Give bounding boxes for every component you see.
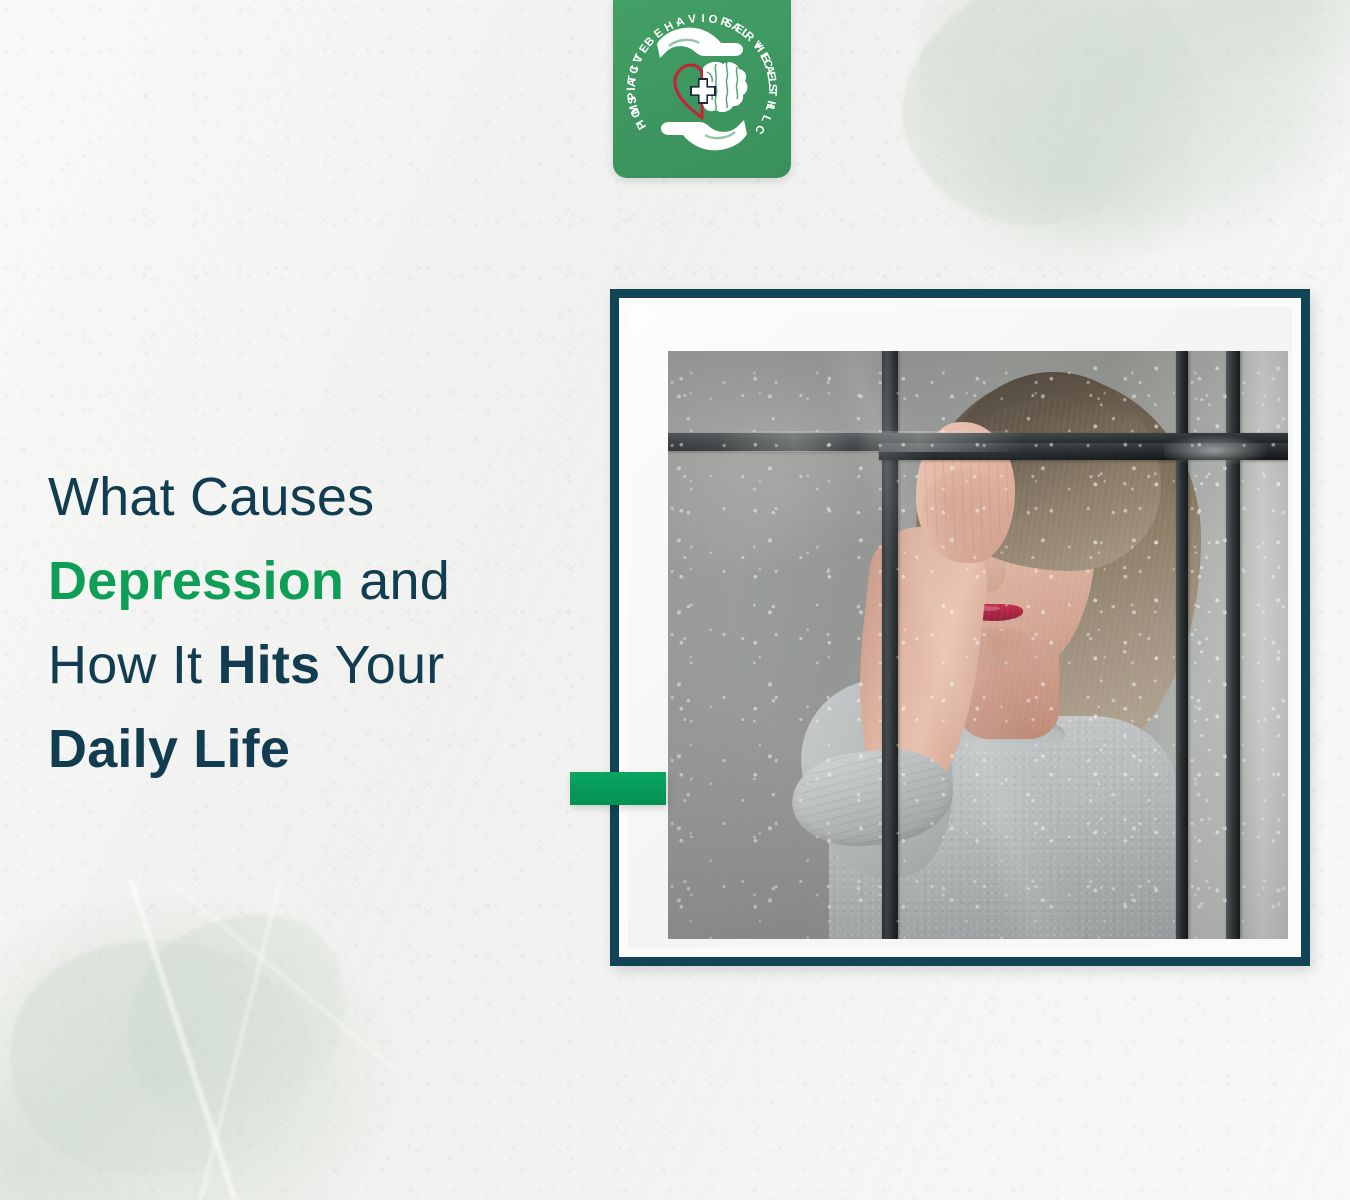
headline-text-depression: Depression xyxy=(48,551,344,611)
framed-photo xyxy=(610,289,1310,966)
headline-text-hits: Hits xyxy=(217,635,320,695)
svg-text:C: C xyxy=(752,122,767,136)
svg-text:L: L xyxy=(759,113,773,124)
photo-frame-mat xyxy=(628,307,1292,948)
svg-text:V: V xyxy=(688,13,698,26)
photo-frame-border xyxy=(610,289,1310,966)
leaf-shape-bottom-left xyxy=(0,907,335,1200)
headline-text-your: Your xyxy=(320,635,444,695)
photo-vignette xyxy=(668,351,1288,939)
headline-line-2: Depression and xyxy=(48,539,568,623)
headline-text-daily-life: Daily Life xyxy=(48,719,290,779)
svg-text:T: T xyxy=(626,75,639,84)
leaf-shape-top-right xyxy=(869,0,1232,260)
logo-graphic: IMPACTBEHAVIORALHEALTH POSITIVE·SERVICES… xyxy=(613,0,791,178)
headline-text-what-causes: What Causes xyxy=(48,467,374,527)
svg-text:S: S xyxy=(766,84,778,92)
logo-badge[interactable]: IMPACTBEHAVIORALHEALTH POSITIVE·SERVICES… xyxy=(613,0,791,178)
leaf-vein-highlights xyxy=(0,880,400,1200)
svg-text:I: I xyxy=(626,87,638,90)
headline-line-3: How It Hits Your xyxy=(48,623,568,707)
headline-line-1: What Causes xyxy=(48,455,568,539)
poster-canvas: IMPACTBEHAVIORALHEALTH POSITIVE·SERVICES… xyxy=(0,0,1350,1200)
depression-woman-window-photo xyxy=(668,351,1288,939)
headline-text-and: and xyxy=(344,551,450,611)
watercolor-blob-bottom-left xyxy=(0,870,410,1200)
headline-text-how-it: How It xyxy=(48,635,217,695)
page-title: What Causes Depression and How It Hits Y… xyxy=(48,455,568,791)
svg-text:I: I xyxy=(702,13,705,25)
svg-text:O: O xyxy=(708,13,719,26)
leaf-shape-bottom-left-secondary xyxy=(90,879,380,1151)
watercolor-blob-top-right-secondary xyxy=(900,40,1230,320)
watercolor-blob-top-right xyxy=(920,0,1350,310)
headline-line-4: Daily Life xyxy=(48,707,568,791)
green-accent-bar xyxy=(570,772,666,805)
